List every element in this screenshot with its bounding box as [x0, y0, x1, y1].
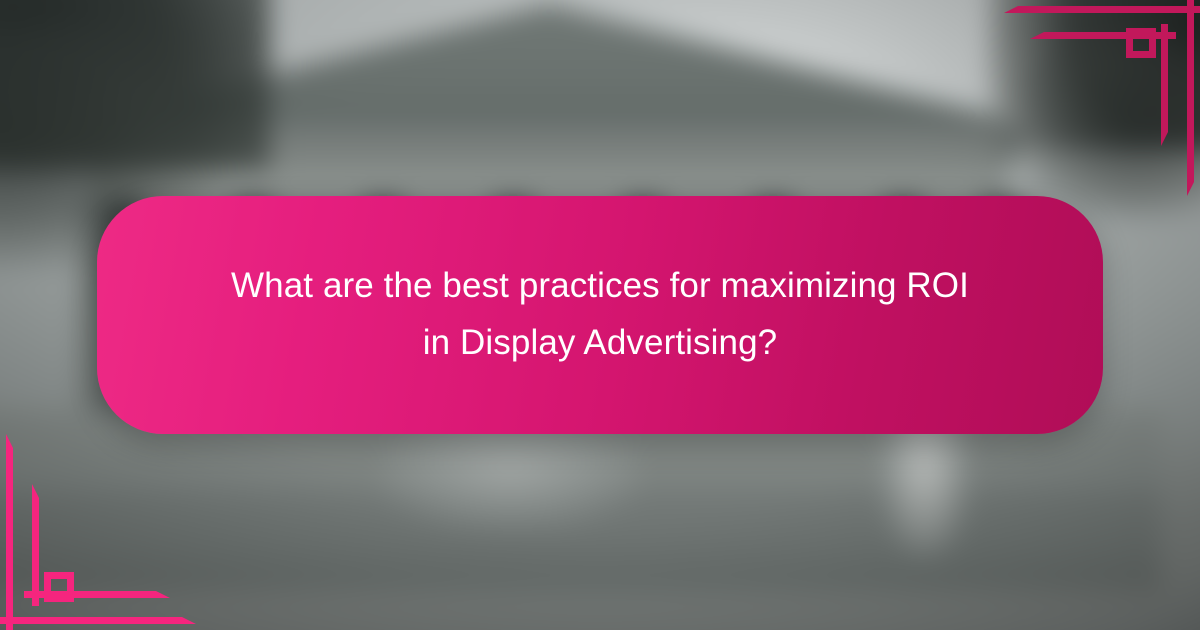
headline-text: What are the best practices for maximizi…	[220, 258, 980, 371]
corner-square-top-right	[1126, 28, 1156, 58]
corner-line-bottom-outer	[0, 617, 196, 624]
corner-square-bottom-left	[44, 572, 74, 602]
corner-line-top-outer	[1004, 6, 1200, 13]
corner-line-left-outer	[6, 434, 13, 630]
corner-line-left-inner	[32, 484, 39, 606]
corner-line-right-outer	[1187, 0, 1194, 196]
headline-card: What are the best practices for maximizi…	[97, 196, 1103, 434]
corner-line-right-inner	[1161, 24, 1168, 146]
promo-banner: What are the best practices for maximizi…	[0, 0, 1200, 630]
